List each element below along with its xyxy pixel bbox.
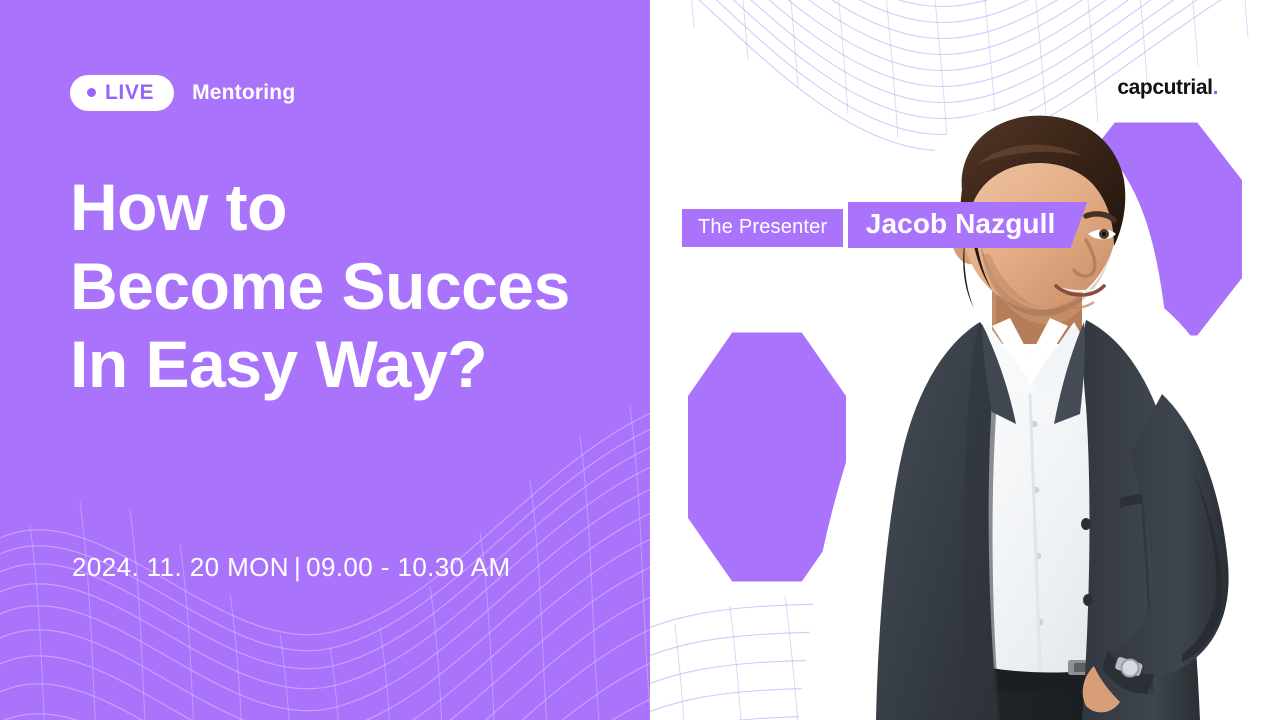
presenter-role-label: The Presenter [682,209,843,247]
webinar-banner: LIVE Mentoring How to Become Succes In E… [0,0,1280,720]
headline-line-1: How to [70,168,570,247]
live-badge[interactable]: LIVE [70,75,174,111]
brand-logo: capcutrial. [1117,76,1218,100]
live-badge-row: LIVE Mentoring [70,75,295,111]
presenter-info: The Presenter Jacob Nazgull [682,198,1087,248]
hexagon-shape-icon-small [688,330,846,584]
live-dot-icon [87,88,96,97]
page-title: How to Become Succes In Easy Way? [70,168,570,404]
schedule-date: 2024. 11. 20 MON [72,552,289,582]
brand-logo-dot: . [1213,76,1218,99]
category-label: Mentoring [192,81,295,105]
schedule-separator: | [289,552,306,582]
hexagon-shape-icon-large [1070,118,1242,340]
left-content-panel: LIVE Mentoring How to Become Succes In E… [0,0,650,720]
live-badge-label: LIVE [105,82,154,103]
right-visual-panel: capcutrial. The Presenter Jacob Nazgull [650,0,1280,720]
headline-line-3: In Easy Way? [70,325,570,404]
brand-logo-name: capcutrial [1117,76,1212,99]
headline-line-2: Become Succes [70,247,570,326]
mesh-wave-graphic-left [0,380,650,720]
schedule-line: 2024. 11. 20 MON|09.00 - 10.30 AM [72,552,511,583]
schedule-time: 09.00 - 10.30 AM [306,552,510,582]
presenter-name-label: Jacob Nazgull [848,202,1088,248]
